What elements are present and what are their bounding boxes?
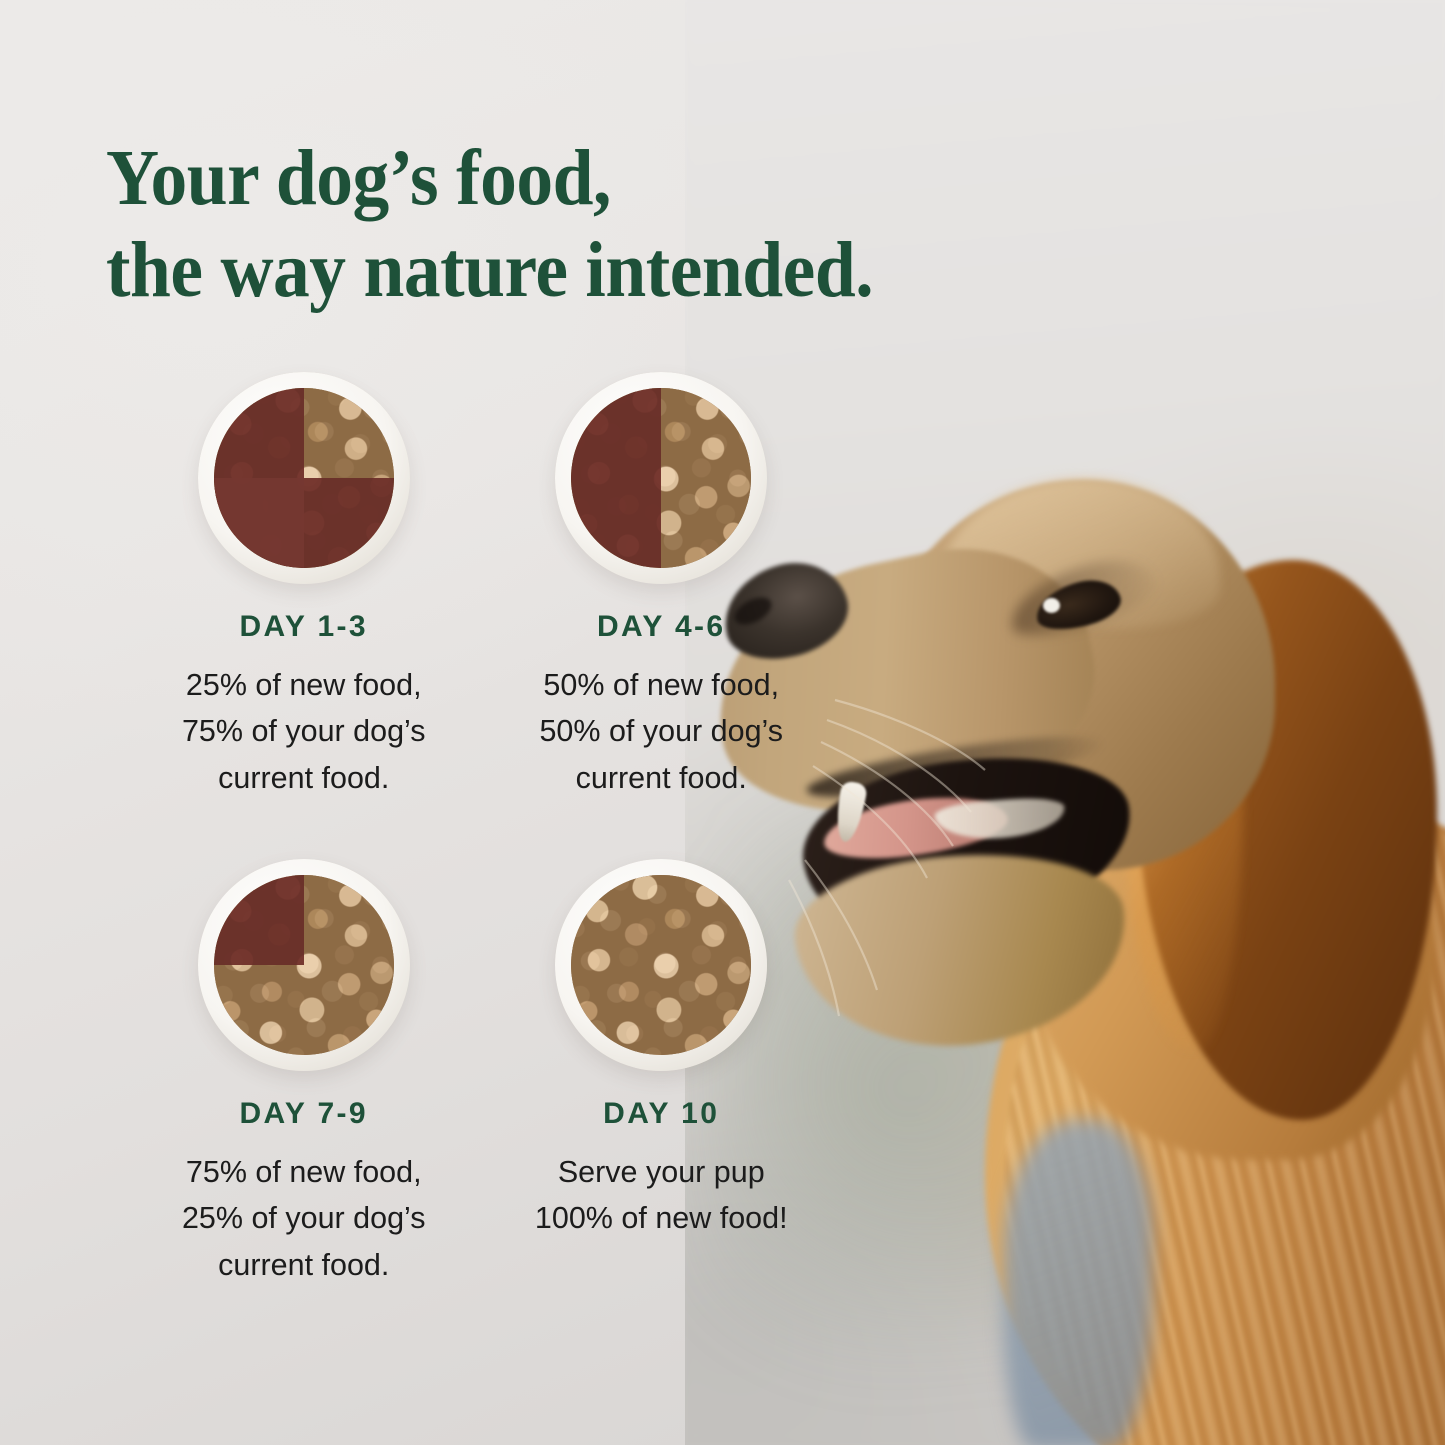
bowl-day-10: [555, 859, 767, 1071]
step-description: 50% of new food, 50% of your dog’s curre…: [483, 662, 841, 801]
step-row-2: DAY 7-9 75% of new food, 25% of your dog…: [0, 859, 840, 1288]
day-label: DAY 10: [483, 1097, 841, 1131]
kibble-new-food: [214, 875, 394, 1055]
bowl-day-1-3: [198, 372, 410, 584]
kibble-new-food: [214, 388, 394, 568]
step-day-10: DAY 10 Serve your pup 100% of new food!: [483, 859, 841, 1288]
step-day-1-3: DAY 1-3 25% of new food, 75% of your dog…: [125, 372, 483, 801]
page-title: Your dog’s food, the way nature intended…: [106, 133, 1036, 316]
step-description: Serve your pup 100% of new food!: [483, 1149, 841, 1242]
bowl-day-7-9: [198, 859, 410, 1071]
collar: [1003, 1120, 1153, 1445]
step-day-7-9: DAY 7-9 75% of new food, 25% of your dog…: [125, 859, 483, 1288]
kibble-new-food: [571, 875, 751, 1055]
promo-infographic: Your dog’s food, the way nature intended…: [0, 0, 1445, 1445]
step-description: 25% of new food, 75% of your dog’s curre…: [125, 662, 483, 801]
kibble-new-food: [571, 388, 751, 568]
step-row-1: DAY 1-3 25% of new food, 75% of your dog…: [0, 372, 840, 801]
day-label: DAY 7-9: [125, 1097, 483, 1131]
step-day-4-6: DAY 4-6 50% of new food, 50% of your dog…: [483, 372, 841, 801]
transition-steps: DAY 1-3 25% of new food, 75% of your dog…: [0, 372, 840, 1288]
day-label: DAY 4-6: [483, 610, 841, 644]
step-description: 75% of new food, 25% of your dog’s curre…: [125, 1149, 483, 1288]
day-label: DAY 1-3: [125, 610, 483, 644]
bowl-day-4-6: [555, 372, 767, 584]
